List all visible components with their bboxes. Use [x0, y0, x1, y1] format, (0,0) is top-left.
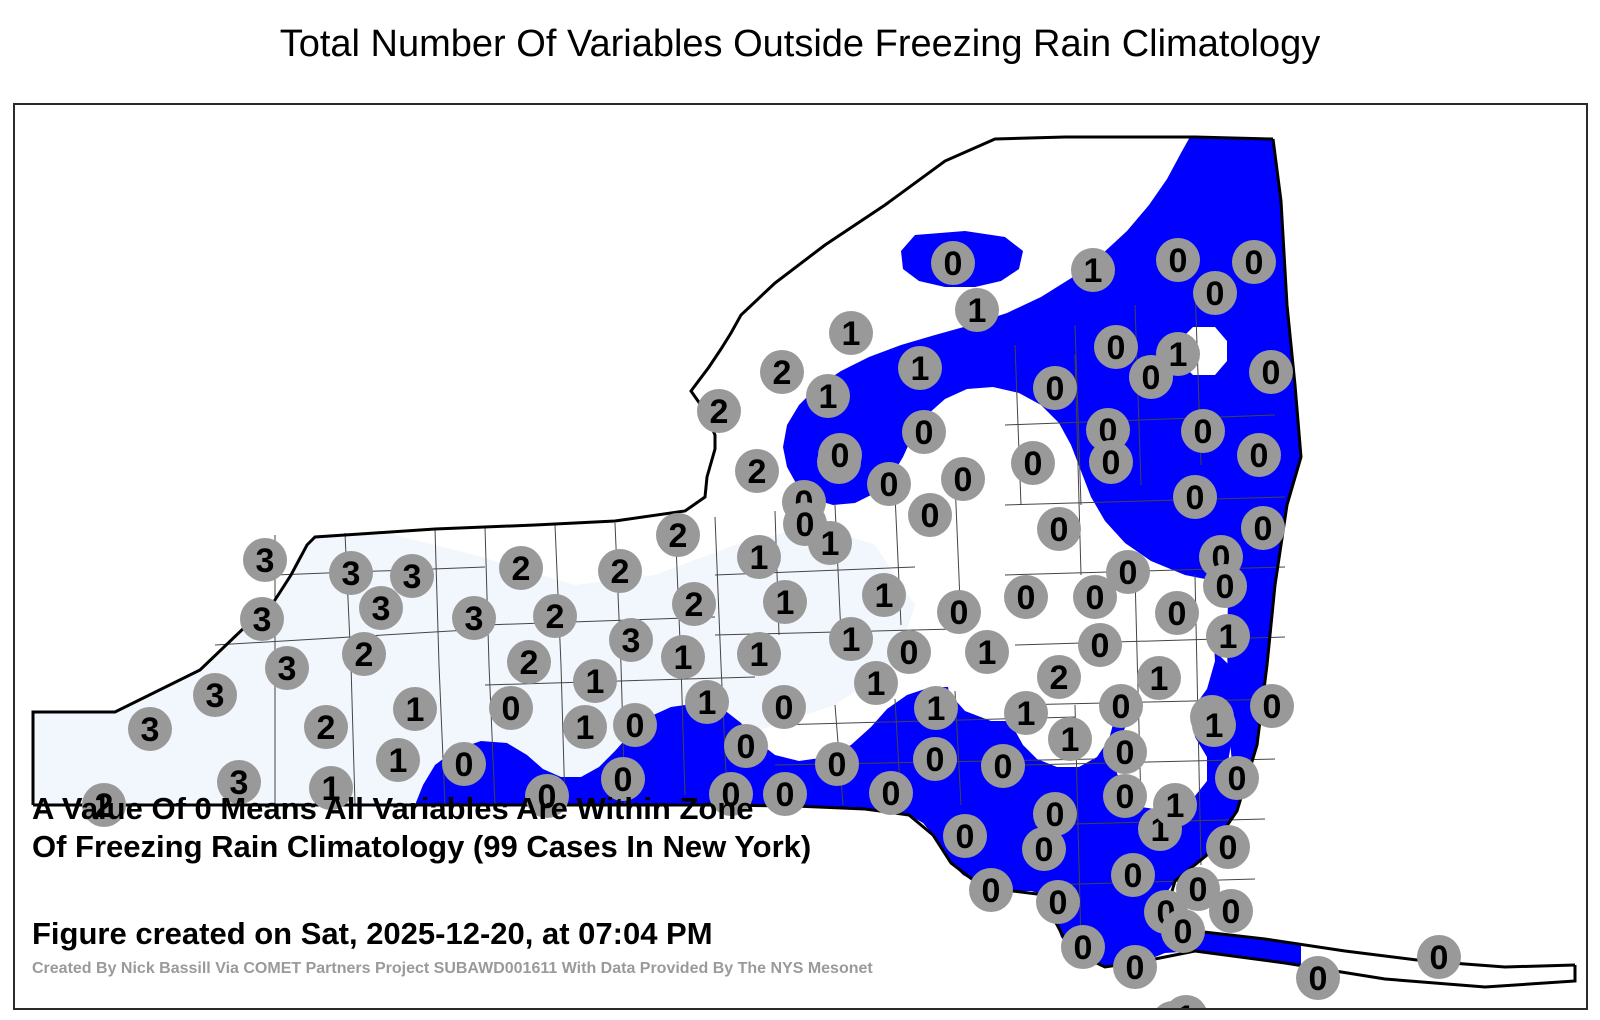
station-marker: 0 — [442, 742, 486, 786]
station-marker-value: 2 — [317, 709, 336, 747]
station-marker-value: 1 — [821, 525, 840, 563]
station-marker-value: 0 — [1169, 242, 1188, 280]
station-marker: 0 — [1161, 909, 1205, 953]
station-marker: 2 — [507, 640, 551, 684]
station-marker-value: 1 — [750, 539, 769, 577]
station-marker-value: 0 — [1119, 554, 1138, 592]
station-marker: 0 — [1106, 550, 1150, 594]
station-marker: 0 — [815, 742, 859, 786]
station-marker: 3 — [359, 586, 403, 630]
station-marker-value: 0 — [1102, 444, 1121, 482]
station-marker-value: 0 — [831, 437, 850, 475]
station-marker-value: 0 — [1222, 893, 1241, 931]
station-marker: 0 — [1061, 925, 1105, 969]
station-marker-value: 0 — [1206, 275, 1225, 313]
station-marker-value: 2 — [546, 598, 565, 636]
station-marker-value: 1 — [842, 315, 861, 353]
station-marker-value: 1 — [1166, 787, 1185, 825]
station-marker: 1 — [1004, 691, 1048, 735]
station-marker: 0 — [818, 433, 862, 477]
station-marker: 1 — [829, 617, 873, 661]
station-marker: 0 — [489, 686, 533, 730]
station-marker: 1 — [1206, 614, 1250, 658]
station-marker: 0 — [1249, 350, 1293, 394]
station-marker-value: 0 — [1309, 960, 1328, 998]
station-marker-value: 1 — [1150, 660, 1169, 698]
station-marker-value: 1 — [819, 378, 838, 416]
station-marker-value: 3 — [403, 558, 422, 596]
station-marker-value: 0 — [1189, 871, 1208, 909]
station-marker: 0 — [1181, 409, 1225, 453]
station-marker-value: 0 — [1074, 929, 1093, 967]
station-marker-value: 0 — [982, 872, 1001, 910]
station-marker: 0 — [1296, 956, 1340, 1000]
page-title: Total Number Of Variables Outside Freezi… — [0, 22, 1600, 66]
station-marker: 0 — [869, 771, 913, 815]
station-marker: 1 — [1071, 248, 1115, 292]
station-marker: 0 — [1089, 440, 1133, 484]
station-marker-value: 0 — [1112, 688, 1131, 726]
station-marker-value: 1 — [1169, 336, 1188, 374]
figure-root: Total Number Of Variables Outside Freezi… — [0, 0, 1600, 1020]
station-marker-value: 1 — [1017, 695, 1036, 733]
station-marker-value: 1 — [674, 639, 693, 677]
station-marker: 0 — [1078, 623, 1122, 667]
legend-note: A Value Of 0 Means All Variables Are Wit… — [32, 790, 811, 866]
station-marker: 1 — [806, 374, 850, 418]
station-marker: 1 — [661, 635, 705, 679]
station-marker: 0 — [1113, 945, 1157, 989]
station-marker-value: 2 — [1050, 659, 1069, 697]
station-marker: 1 — [862, 573, 906, 617]
station-marker: 1 — [1048, 717, 1092, 761]
station-marker-value: 0 — [994, 748, 1013, 786]
station-marker-value: 0 — [900, 634, 919, 672]
legend-note-line2: Of Freezing Rain Climatology (99 Cases I… — [32, 829, 811, 864]
station-marker-value: 3 — [256, 542, 275, 580]
station-marker-value: 0 — [455, 746, 474, 784]
station-marker-value: 1 — [978, 634, 997, 672]
station-marker-value: 1 — [927, 690, 946, 728]
station-marker-value: 0 — [1245, 244, 1264, 282]
station-marker-value: 1 — [968, 292, 987, 330]
station-marker: 1 — [1192, 703, 1236, 747]
station-marker: 0 — [1173, 475, 1217, 519]
station-marker-value: 0 — [1430, 939, 1449, 977]
station-marker: 1 — [737, 535, 781, 579]
station-marker: 0 — [1206, 825, 1250, 869]
station-marker: 0 — [1011, 441, 1055, 485]
station-marker: 0 — [1094, 325, 1138, 369]
station-marker-value: 0 — [1194, 413, 1213, 451]
station-marker-value: 0 — [1228, 760, 1247, 798]
station-marker-value: 0 — [1250, 437, 1269, 475]
station-marker: 0 — [1004, 575, 1048, 619]
station-marker-value: 0 — [1254, 510, 1273, 548]
station-marker: 0 — [1215, 756, 1259, 800]
station-marker: 0 — [902, 410, 946, 454]
station-marker-value: 2 — [512, 550, 531, 588]
station-marker: 3 — [240, 597, 284, 641]
station-marker-value: 1 — [1219, 618, 1238, 656]
station-marker: 0 — [762, 685, 806, 729]
station-marker: 1 — [376, 738, 420, 782]
station-marker: 0 — [943, 814, 987, 858]
station-marker: 0 — [941, 457, 985, 501]
station-marker-value: 0 — [626, 707, 645, 745]
station-marker-value: 0 — [1168, 595, 1187, 633]
station-marker: 0 — [931, 241, 975, 285]
legend-note-line1: A Value Of 0 Means All Variables Are Wit… — [32, 791, 754, 826]
station-marker-value: 1 — [389, 742, 408, 780]
station-marker-value: 0 — [950, 594, 969, 632]
station-marker-value: 2 — [748, 453, 767, 491]
station-marker-value: 0 — [1091, 627, 1110, 665]
station-marker: 0 — [1250, 684, 1294, 728]
station-marker: 3 — [390, 554, 434, 598]
station-marker-value: 0 — [880, 466, 899, 504]
station-marker-value: 2 — [773, 354, 792, 392]
station-marker-value: 3 — [342, 555, 361, 593]
station-marker-value: 0 — [1124, 857, 1143, 895]
station-marker-value: 2 — [520, 644, 539, 682]
station-marker-value: 3 — [141, 711, 160, 749]
station-marker: 3 — [193, 673, 237, 717]
station-marker-value: 0 — [954, 461, 973, 499]
station-marker: 1 — [1137, 656, 1181, 700]
station-marker-value: 0 — [1017, 579, 1036, 617]
credit-text: Created By Nick Bassill Via COMET Partne… — [32, 960, 873, 978]
station-marker: 3 — [128, 707, 172, 751]
station-marker: 0 — [1232, 240, 1276, 284]
station-marker-value: 3 — [372, 590, 391, 628]
station-marker: 1 — [685, 680, 729, 724]
station-marker-value: 3 — [253, 601, 272, 639]
station-marker: 1 — [829, 311, 873, 355]
station-marker-value: 3 — [206, 677, 225, 715]
station-marker-value: 0 — [926, 741, 945, 779]
station-marker: 0 — [913, 737, 957, 781]
station-marker: 2 — [533, 594, 577, 638]
station-marker-value: 0 — [775, 689, 794, 727]
station-marker-value: 2 — [685, 586, 704, 624]
station-marker-value: 0 — [1219, 829, 1238, 867]
station-marker-value: 1 — [867, 665, 886, 703]
station-marker: 0 — [969, 868, 1013, 912]
station-marker-value: 1 — [1205, 707, 1224, 745]
station-marker: 2 — [499, 546, 543, 590]
station-marker: 2 — [656, 513, 700, 557]
station-marker: 2 — [342, 632, 386, 676]
station-marker-value: 1 — [875, 577, 894, 615]
station-marker-value: 0 — [1050, 511, 1069, 549]
station-marker-value: 1 — [842, 621, 861, 659]
station-marker: 1 — [898, 346, 942, 390]
station-marker: 0 — [1155, 591, 1199, 635]
station-marker: 1 — [808, 521, 852, 565]
station-marker-value: 0 — [1116, 734, 1135, 772]
station-marker: 0 — [1033, 366, 1077, 410]
choropleth-map: 2333333213231313222000112003221120021120… — [15, 105, 1588, 1010]
station-marker: 0 — [981, 744, 1025, 788]
creation-date-text: Figure created on Sat, 2025-12-20, at 07… — [32, 915, 713, 953]
station-marker: 0 — [908, 493, 952, 537]
station-marker-value: 0 — [1086, 579, 1105, 617]
station-marker: 1 — [737, 632, 781, 676]
station-marker-value: 0 — [1049, 884, 1068, 922]
station-marker: 0 — [937, 590, 981, 634]
station-marker-value: 0 — [1142, 359, 1161, 397]
station-marker: 0 — [867, 462, 911, 506]
station-marker: 2 — [598, 549, 642, 593]
station-marker-value: 1 — [406, 691, 425, 729]
station-marker: 0 — [1033, 792, 1077, 836]
station-marker-value: 0 — [921, 497, 940, 535]
station-marker-value: 1 — [750, 636, 769, 674]
station-marker: 2 — [672, 582, 716, 626]
station-marker-value: 2 — [669, 517, 688, 555]
station-marker-value: 3 — [622, 622, 641, 660]
station-marker-value: 1 — [1177, 999, 1196, 1010]
station-marker: 0 — [1417, 935, 1461, 979]
station-marker-value: 0 — [1046, 370, 1065, 408]
station-marker: 1 — [914, 686, 958, 730]
map-frame: 2333333213231313222000112003221120021120… — [13, 103, 1588, 1010]
station-marker-value: 0 — [1216, 568, 1235, 606]
station-marker-value: 0 — [882, 775, 901, 813]
station-marker-value: 0 — [502, 690, 521, 728]
station-marker-value: 0 — [956, 818, 975, 856]
station-marker: 3 — [452, 596, 496, 640]
station-marker: 1 — [854, 661, 898, 705]
station-marker-value: 0 — [915, 414, 934, 452]
station-marker-value: 1 — [576, 709, 595, 747]
station-marker-value: 1 — [698, 684, 717, 722]
station-marker-value: 1 — [1084, 252, 1103, 290]
station-marker: 0 — [1103, 774, 1147, 818]
station-marker-value: 0 — [1174, 913, 1193, 951]
station-marker-value: 1 — [586, 663, 605, 701]
station-marker: 1 — [763, 580, 807, 624]
station-marker: 0 — [1099, 684, 1143, 728]
station-marker: 0 — [1103, 730, 1147, 774]
station-marker: 0 — [1156, 238, 1200, 282]
station-marker-value: 0 — [1107, 329, 1126, 367]
station-marker-value: 1 — [776, 584, 795, 622]
station-marker: 1 — [965, 630, 1009, 674]
station-marker: 0 — [613, 703, 657, 747]
station-marker: 0 — [1203, 564, 1247, 608]
station-marker: 0 — [724, 724, 768, 768]
station-marker-value: 0 — [1024, 445, 1043, 483]
station-marker-value: 2 — [355, 636, 374, 674]
station-marker-value: 0 — [1035, 831, 1054, 869]
station-marker-value: 0 — [1262, 354, 1281, 392]
station-marker-value: 0 — [1046, 796, 1065, 834]
station-marker-value: 2 — [710, 393, 729, 431]
station-marker: 1 — [1156, 332, 1200, 376]
station-marker-value: 0 — [737, 728, 756, 766]
station-marker: 2 — [1037, 655, 1081, 699]
station-marker: 2 — [760, 350, 804, 394]
station-marker-value: 2 — [611, 553, 630, 591]
station-marker-value: 0 — [1263, 688, 1282, 726]
station-marker: 3 — [265, 646, 309, 690]
station-marker: 1 — [955, 288, 999, 332]
station-marker: 0 — [1036, 880, 1080, 924]
station-marker-value: 0 — [1186, 479, 1205, 517]
station-marker-value: 1 — [911, 350, 930, 388]
station-marker: 2 — [304, 705, 348, 749]
station-marker-value: 0 — [1126, 949, 1145, 987]
station-marker: 1 — [1153, 783, 1197, 827]
station-marker: 1 — [573, 659, 617, 703]
station-marker-value: 3 — [278, 650, 297, 688]
station-marker-value: 3 — [465, 600, 484, 638]
station-marker: 0 — [1193, 271, 1237, 315]
station-marker: 2 — [697, 389, 741, 433]
station-marker: 0 — [1111, 853, 1155, 897]
station-marker: 0 — [1209, 889, 1253, 933]
station-marker: 3 — [329, 551, 373, 595]
station-marker: 1 — [563, 705, 607, 749]
station-marker: 0 — [1241, 506, 1285, 550]
station-marker: 3 — [243, 538, 287, 582]
station-marker-value: 0 — [1116, 778, 1135, 816]
station-marker: 3 — [609, 618, 653, 662]
station-marker: 2 — [735, 449, 779, 493]
station-marker-value: 1 — [1061, 721, 1080, 759]
station-marker: 0 — [887, 630, 931, 674]
station-marker: 1 — [393, 687, 437, 731]
station-marker: 0 — [1037, 507, 1081, 551]
station-marker-value: 0 — [828, 746, 847, 784]
station-marker-value: 0 — [944, 245, 963, 283]
station-marker: 0 — [1237, 433, 1281, 477]
